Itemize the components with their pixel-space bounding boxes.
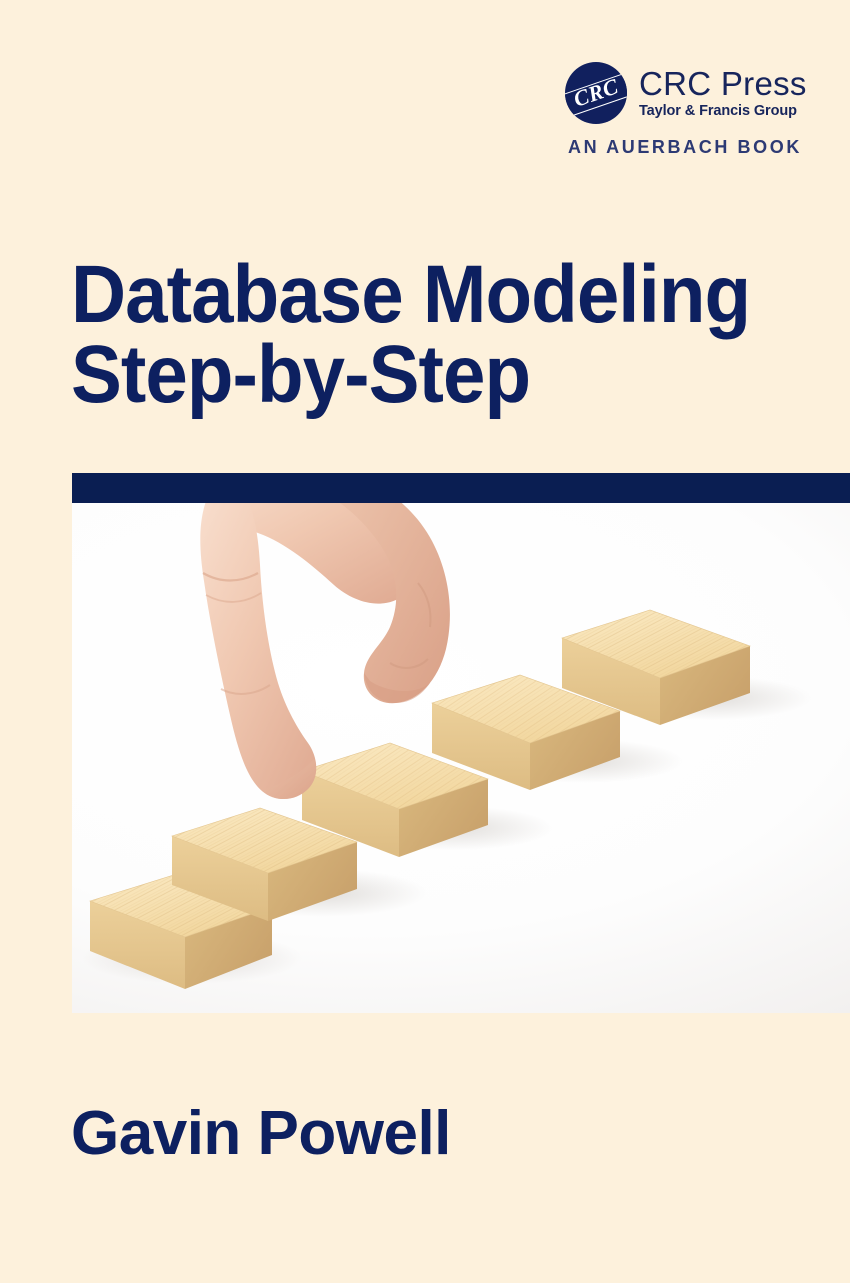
crc-roundel-icon: CRC [565,62,627,124]
publisher-group: Taylor & Francis Group [639,104,807,119]
imprint-label: AN AUERBACH BOOK [568,137,825,158]
photo-illustration [72,503,850,1013]
author-name: Gavin Powell [71,1098,451,1169]
publisher-wordmark: CRC Press Taylor & Francis Group [639,67,807,119]
book-title-line-1: Database Modeling [71,255,759,335]
book-cover: CRC CRC Press Taylor & Francis Group AN … [0,0,850,1283]
publisher-logo-block: CRC CRC Press Taylor & Francis Group AN … [565,62,825,158]
book-title: Database Modeling Step-by-Step [71,255,759,416]
crc-press-logo: CRC CRC Press Taylor & Francis Group [565,62,825,124]
crc-monogram-label: CRC [565,62,627,124]
title-divider-bar [72,473,850,503]
book-title-line-2: Step-by-Step [71,335,759,415]
publisher-name: CRC Press [639,67,807,100]
cover-photo [72,503,850,1013]
